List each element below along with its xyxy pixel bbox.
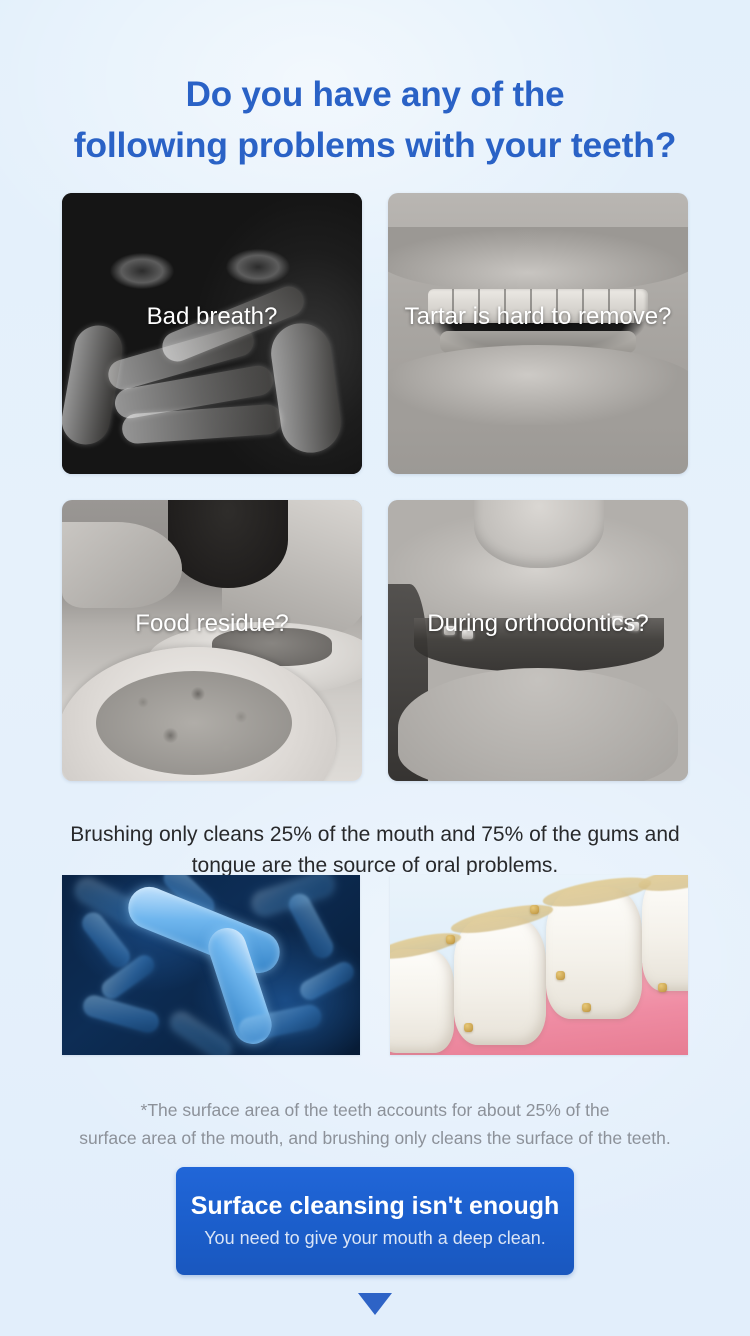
triangle-down-icon[interactable] — [358, 1293, 392, 1315]
problem-card-caption: Tartar is hard to remove? — [388, 303, 688, 331]
close-up-smile-teeth-photo — [388, 193, 688, 474]
problem-card-food-residue[interactable]: Food residue? — [62, 500, 362, 781]
footnote-line-1: *The surface area of the teeth accounts … — [45, 1096, 705, 1124]
woman-covering-mouth-photo — [62, 193, 362, 474]
page-title-line-1: Do you have any of the — [0, 69, 750, 120]
problem-card-bad-breath[interactable]: Bad breath? — [62, 193, 362, 474]
page-title-line-2: following problems with your teeth? — [0, 120, 750, 171]
body-paragraph: Brushing only cleans 25% of the mouth an… — [45, 819, 705, 881]
problem-card-caption: Food residue? — [62, 610, 362, 638]
footnote-text: *The surface area of the teeth accounts … — [45, 1096, 705, 1152]
illustration-row — [62, 875, 688, 1055]
problem-card-tartar[interactable]: Tartar is hard to remove? — [388, 193, 688, 474]
cta-title: Surface cleansing isn't enough — [191, 1190, 560, 1222]
bacteria-micrograph-image — [62, 875, 360, 1055]
promo-page: Do you have any of the following problem… — [0, 0, 750, 1336]
person-eating-meal-photo — [62, 500, 362, 781]
page-title: Do you have any of the following problem… — [0, 69, 750, 171]
problem-card-orthodontics[interactable]: During orthodontics? — [388, 500, 688, 781]
problem-card-caption: Bad breath? — [62, 303, 362, 331]
teeth-plaque-illustration-image — [390, 875, 688, 1055]
problem-card-grid: Bad breath? Tartar is hard to remove? F — [62, 193, 688, 781]
cta-subtitle: You need to give your mouth a deep clean… — [204, 1224, 546, 1252]
deep-clean-cta-button[interactable]: Surface cleansing isn't enough You need … — [176, 1167, 574, 1275]
mouth-with-braces-photo — [388, 500, 688, 781]
problem-card-caption: During orthodontics? — [388, 610, 688, 638]
footnote-line-2: surface area of the mouth, and brushing … — [45, 1124, 705, 1152]
body-paragraph-line-1: Brushing only cleans 25% of the mouth an… — [70, 823, 639, 846]
